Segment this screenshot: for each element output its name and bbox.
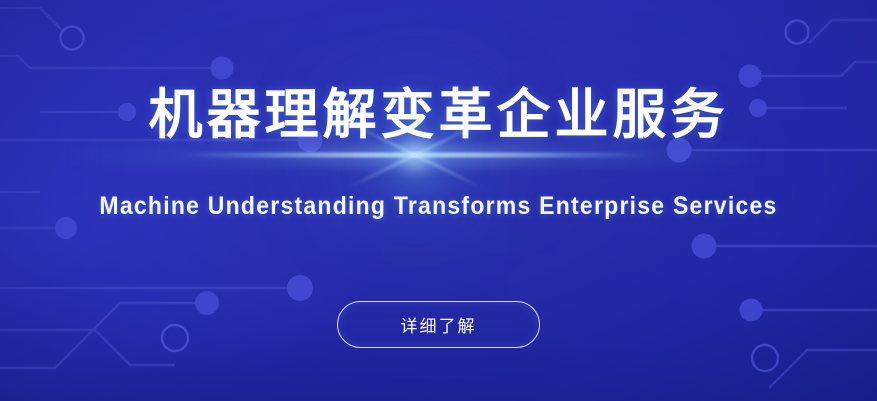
banner-content: 机器理解变革企业服务 Machine Understanding Transfo… [0, 0, 877, 401]
cta-container: 详细了解 [0, 301, 877, 348]
hero-banner: 机器理解变革企业服务 Machine Understanding Transfo… [0, 0, 877, 401]
banner-headline: 机器理解变革企业服务 [0, 86, 877, 144]
learn-more-button[interactable]: 详细了解 [337, 301, 540, 348]
banner-subtitle: Machine Understanding Transforms Enterpr… [35, 192, 842, 221]
